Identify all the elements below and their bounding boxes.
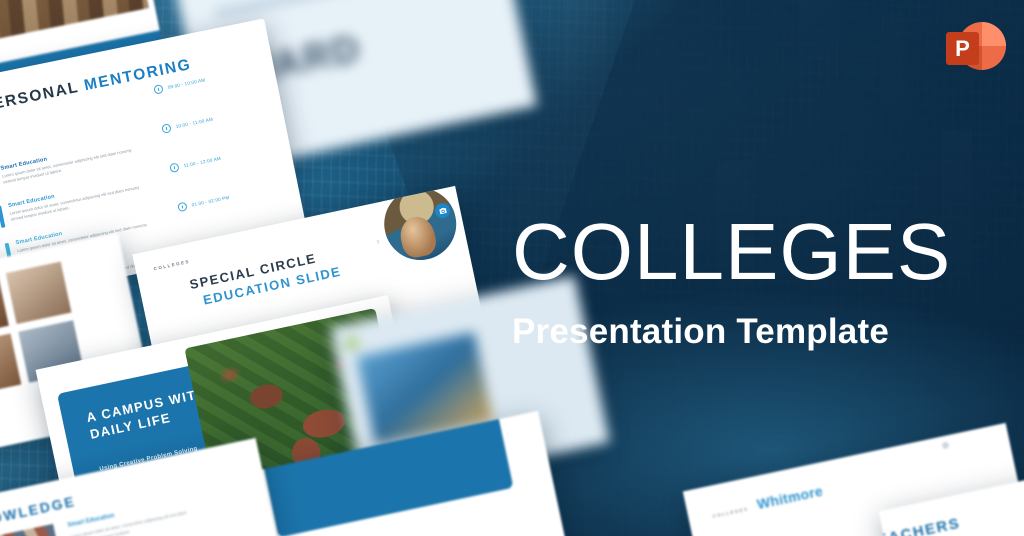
clock-icon — [169, 162, 180, 173]
list-item-bar — [0, 206, 5, 228]
time-label: 11:00 - 12:00 AM — [183, 156, 221, 168]
list-item: Smart Education Lorem ipsum dolor sit am… — [8, 175, 149, 222]
team-photo — [6, 262, 72, 325]
slide-page-number: 3 — [376, 239, 379, 244]
time-row: 11:00 - 12:00 AM — [169, 154, 222, 173]
powerpoint-logo-tile: P — [946, 32, 979, 65]
whitmore-name: Whitmore — [755, 483, 824, 513]
knowledge-title: KNOWLEDGE — [0, 493, 77, 532]
list-item: Smart Education Lorem ipsum dolor sit am… — [0, 138, 141, 185]
promo-banner: AWARD PERSONAL MENTORING Smart Education… — [0, 0, 1024, 536]
slide-brand-label: COLLEGES — [712, 506, 749, 518]
hero-text-block: COLLEGES Presentation Template — [512, 214, 1012, 352]
time-row: 10:00 - 11:00 AM — [161, 115, 214, 134]
blurred-heading-bar — [214, 0, 392, 18]
page-title: COLLEGES — [512, 214, 1012, 290]
teachers-title: TEACHERS — [879, 515, 962, 536]
mentoring-title-dark: PERSONAL — [0, 79, 80, 115]
decorative-dot — [345, 337, 359, 351]
decorative-dot — [941, 441, 949, 449]
time-label: 09:00 - 10:00 AM — [167, 77, 205, 90]
clock-icon — [153, 84, 164, 95]
time-label: 01:00 - 02:00 PM — [191, 195, 230, 208]
page-subtitle: Presentation Template — [512, 312, 1012, 352]
clock-icon — [161, 123, 172, 134]
time-row: 01:00 - 02:00 PM — [177, 193, 230, 212]
clock-icon — [177, 202, 188, 213]
knowledge-photo — [0, 524, 68, 536]
team-photo — [0, 334, 21, 397]
powerpoint-logo-letter: P — [955, 38, 970, 60]
time-label: 10:00 - 11:00 AM — [175, 117, 213, 129]
powerpoint-logo: P — [946, 18, 1006, 78]
slide-brand-label: COLLEGES — [153, 259, 190, 272]
